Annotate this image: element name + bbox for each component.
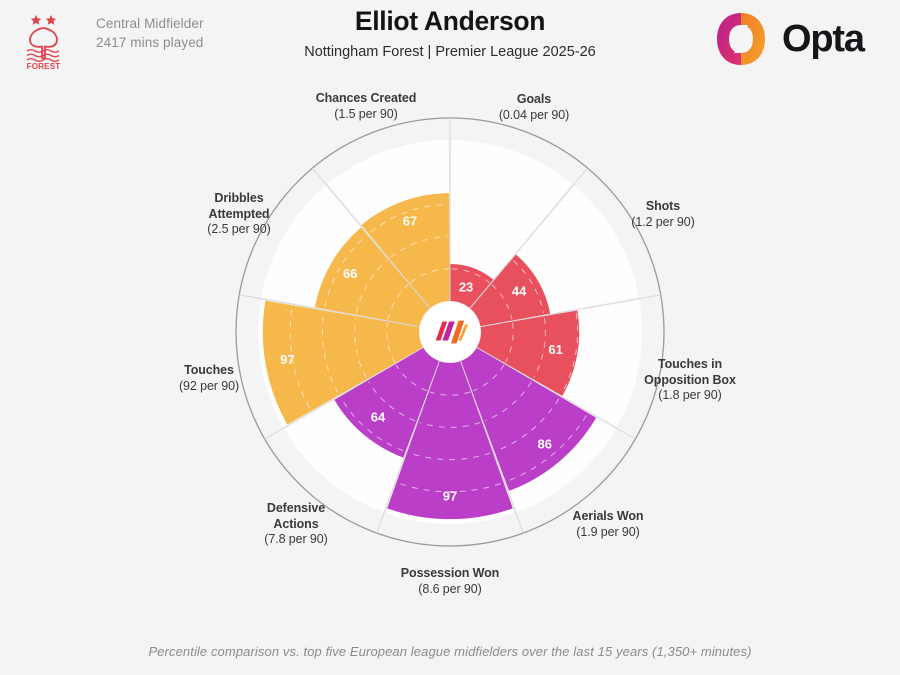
pizza-chart-svg: 234461869764976667: [0, 88, 900, 618]
slice-value-label: 86: [538, 436, 552, 451]
axis-label-line: Touches: [139, 363, 279, 379]
axis-label-aerials-won: Aerials Won(1.9 per 90): [533, 509, 683, 540]
page-title: Elliot Anderson: [270, 4, 630, 38]
opta-mark-icon: [710, 10, 772, 68]
axis-label-line: Touches in: [615, 357, 765, 373]
axis-label-per90: (1.5 per 90): [276, 107, 456, 123]
slice-value-label: 64: [371, 409, 386, 424]
slice-value-label: 97: [280, 352, 294, 367]
axis-label-per90: (8.6 per 90): [360, 582, 540, 598]
slice-value-label: 66: [343, 266, 357, 281]
axis-label-line: Aerials Won: [533, 509, 683, 525]
opta-player-radar-page: FOREST Central Midfielder 2417 mins play…: [0, 0, 900, 675]
axis-label-per90: (1.2 per 90): [593, 215, 733, 231]
axis-label-per90: (1.9 per 90): [533, 525, 683, 541]
axis-label-line: Opposition Box: [615, 373, 765, 389]
slice-value-label: 67: [403, 214, 417, 229]
player-minutes: 2417 mins played: [96, 33, 276, 52]
axis-label-shots: Shots(1.2 per 90): [593, 199, 733, 230]
opta-wordmark: Opta: [782, 20, 864, 58]
axis-label-defensive-actions: DefensiveActions(7.8 per 90): [221, 501, 371, 548]
header: FOREST Central Midfielder 2417 mins play…: [0, 0, 900, 88]
footnote: Percentile comparison vs. top five Europ…: [0, 644, 900, 659]
axis-label-line: Goals: [464, 92, 604, 108]
axis-label-per90: (92 per 90): [139, 379, 279, 395]
axis-label-dribbles-attempted: DribblesAttempted(2.5 per 90): [164, 191, 314, 238]
axis-label-line: Shots: [593, 199, 733, 215]
axis-label-touches-in-opposition-box: Touches inOpposition Box(1.8 per 90): [615, 357, 765, 404]
opta-logo: Opta: [710, 8, 890, 70]
player-position: Central Midfielder: [96, 14, 276, 33]
pizza-chart: 234461869764976667 Goals(0.04 per 90)Sho…: [0, 88, 900, 618]
axis-label-touches: Touches(92 per 90): [139, 363, 279, 394]
slice-value-label: 44: [512, 284, 527, 299]
slice-value-label: 61: [548, 342, 562, 357]
axis-label-line: Defensive: [221, 501, 371, 517]
axis-label-possession-won: Possession Won(8.6 per 90): [360, 566, 540, 597]
badge-wordmark: FOREST: [27, 62, 61, 71]
axis-label-line: Chances Created: [276, 91, 456, 107]
axis-label-per90: (1.8 per 90): [615, 388, 765, 404]
player-meta: Central Midfielder 2417 mins played: [96, 14, 276, 52]
nottingham-forest-badge-icon: FOREST: [18, 6, 80, 72]
axis-label-per90: (2.5 per 90): [164, 222, 314, 238]
axis-label-line: Dribbles: [164, 191, 314, 207]
axis-label-chances-created: Chances Created(1.5 per 90): [276, 91, 456, 122]
title-block: Elliot Anderson Nottingham Forest | Prem…: [270, 4, 630, 63]
slice-value-label: 97: [443, 489, 457, 504]
axis-label-line: Possession Won: [360, 566, 540, 582]
slice-value-label: 23: [459, 279, 473, 294]
axis-label-line: Attempted: [164, 207, 314, 223]
chart-center-logo: [420, 302, 480, 362]
axis-label-line: Actions: [221, 517, 371, 533]
team-league-subtitle: Nottingham Forest | Premier League 2025-…: [270, 41, 630, 63]
axis-label-per90: (0.04 per 90): [464, 108, 604, 124]
axis-label-per90: (7.8 per 90): [221, 532, 371, 548]
axis-label-goals: Goals(0.04 per 90): [464, 92, 604, 123]
